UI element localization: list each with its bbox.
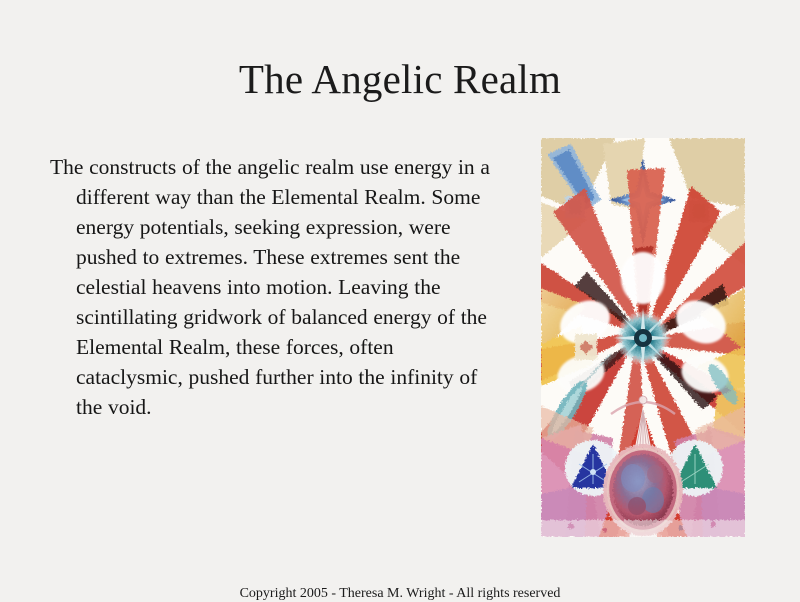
angelic-realm-artwork [541,138,745,537]
copyright-footer: Copyright 2005 - Theresa M. Wright - All… [0,585,800,602]
body-paragraph: The constructs of the angelic realm use … [50,152,505,422]
slide: The Angelic Realm The constructs of the … [0,0,800,600]
body-text-block: The constructs of the angelic realm use … [50,152,505,422]
page-title: The Angelic Realm [0,53,800,105]
